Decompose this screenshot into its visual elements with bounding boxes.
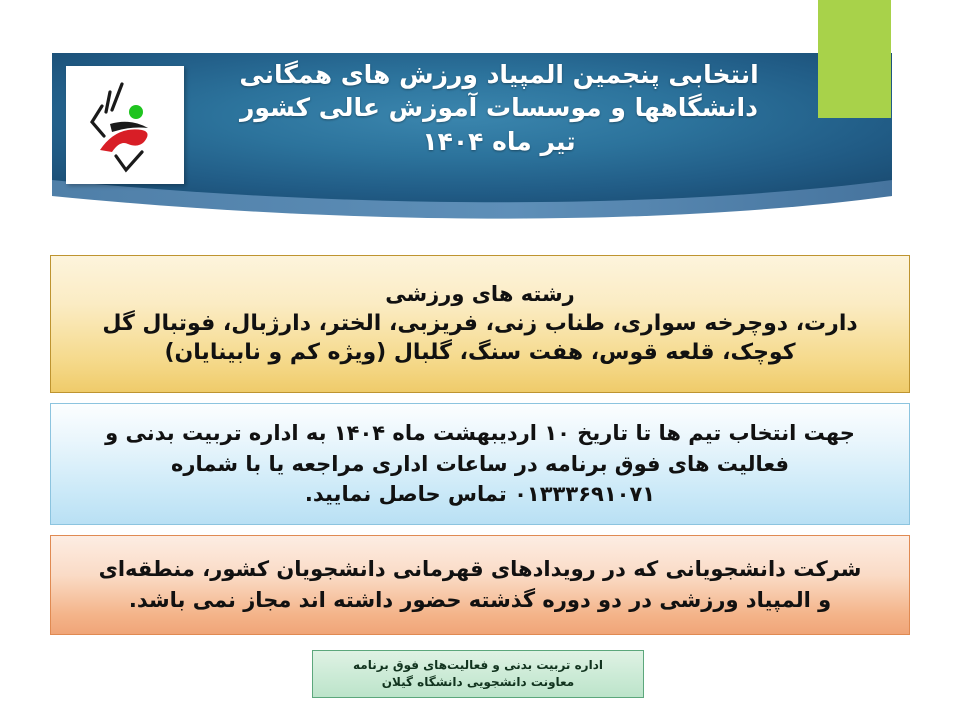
issuing-office-footer: اداره تربیت بدنی و فعالیت‌های فوق برنامه… xyxy=(312,650,644,698)
deadline-line-3-phone: ۰۱۳۳۳۶۹۱۰۷۱ تماس حاصل نمایید. xyxy=(61,479,899,509)
deadline-contact-box: جهت انتخاب تیم ها تا تاریخ ۱۰ اردیبهشت م… xyxy=(50,403,910,525)
sports-box-line-1: دارت، دوچرخه سواری، طناب زنی، فریزبی، ال… xyxy=(61,309,899,338)
header-banner: انتخابی پنجمین المپیاد ورزش های همگانی د… xyxy=(0,0,960,235)
eligibility-restriction-box: شرکت دانشجویانی که در رویدادهای قهرمانی … xyxy=(50,535,910,635)
footer-line-2: معاونت دانشجویی دانشگاه گیلان xyxy=(313,674,643,691)
sports-box-heading: رشته های ورزشی xyxy=(61,281,899,309)
banner-title-line-3: تیر ماه ۱۴۰۴ xyxy=(190,125,808,158)
banner-title-line-2: دانشگاهها و موسسات آموزش عالی کشور xyxy=(190,91,808,124)
restriction-line-2: و المپیاد ورزشی در دو دوره گذشته حضور دا… xyxy=(61,585,899,617)
restriction-line-1: شرکت دانشجویانی که در رویدادهای قهرمانی … xyxy=(61,554,899,586)
sports-box-line-2: کوچک، قلعه قوس، هفت سنگ، گلبال (ویژه کم … xyxy=(61,338,899,367)
olympiad-athlete-logo-icon xyxy=(66,66,184,184)
sports-disciplines-box: رشته های ورزشی دارت، دوچرخه سواری، طناب … xyxy=(50,255,910,393)
organization-logo xyxy=(66,66,184,184)
banner-title: انتخابی پنجمین المپیاد ورزش های همگانی د… xyxy=(190,58,808,158)
footer-line-1: اداره تربیت بدنی و فعالیت‌های فوق برنامه xyxy=(313,657,643,674)
poster-canvas: انتخابی پنجمین المپیاد ورزش های همگانی د… xyxy=(0,0,960,720)
deadline-line-1: جهت انتخاب تیم ها تا تاریخ ۱۰ اردیبهشت م… xyxy=(61,418,899,448)
green-accent-bar xyxy=(818,0,891,118)
banner-title-line-1: انتخابی پنجمین المپیاد ورزش های همگانی xyxy=(190,58,808,91)
deadline-line-2: فعالیت های فوق برنامه در ساعات اداری مرا… xyxy=(61,449,899,479)
